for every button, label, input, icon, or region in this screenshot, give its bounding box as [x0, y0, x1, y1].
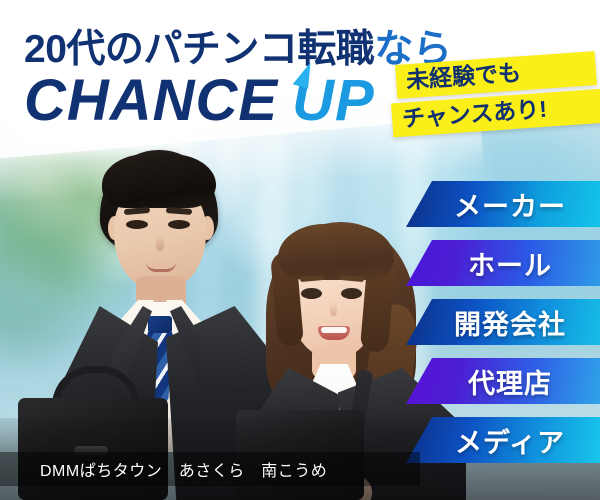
category-label-agency: 代理店	[454, 362, 552, 401]
caption-text: DMMぱちタウン あさくら 南こうめ	[0, 457, 327, 481]
category-label-developer: 開発会社	[440, 303, 566, 342]
category-list: メーカー ホール 開発会社 代理店 メディア	[406, 181, 600, 476]
category-label-hall: ホール	[454, 244, 552, 283]
man-eye-left	[126, 220, 148, 229]
category-button-media[interactable]: メディア	[406, 417, 600, 463]
man-eye-right	[168, 220, 190, 229]
category-button-agency[interactable]: 代理店	[406, 358, 600, 404]
logo-chance-up: CHANCEUP	[24, 72, 375, 130]
headline-main: 20代のパチンコ転職	[24, 28, 374, 71]
woman-eye-left	[301, 288, 322, 299]
page-title: 20代のパチンコ転職なら	[24, 18, 451, 74]
promo-banner: 20代のパチンコ転職なら CHANCEUP 未経験でも チャンスあり! メーカー…	[0, 0, 600, 500]
category-label-maker: メーカー	[440, 185, 566, 224]
woman-teeth	[321, 327, 347, 333]
logo-word-chance: CHANCE	[24, 68, 278, 133]
caption-bar: DMMぱちタウン あさくら 南こうめ	[0, 452, 420, 486]
man-nose	[156, 234, 164, 251]
category-button-maker[interactable]: メーカー	[406, 181, 600, 227]
logo-word-up: UP	[292, 68, 375, 133]
woman-nose	[330, 302, 337, 316]
category-button-hall[interactable]: ホール	[406, 240, 600, 286]
category-button-developer[interactable]: 開発会社	[406, 299, 600, 345]
status-badge: 未経験でも チャンスあり!	[396, 58, 592, 130]
category-label-media: メディア	[441, 421, 565, 460]
woman-fringe	[278, 224, 394, 280]
man-necktie-knot	[148, 316, 172, 333]
woman-eye-right	[341, 288, 362, 299]
man-fringe	[102, 154, 216, 208]
